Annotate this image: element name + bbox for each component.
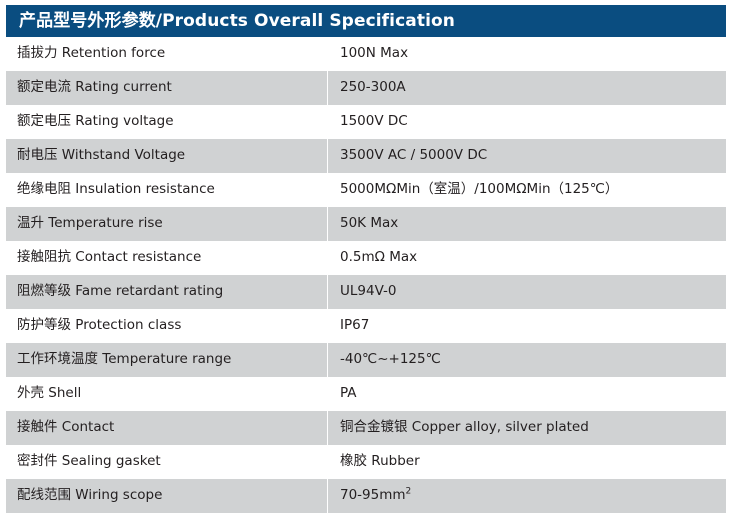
- specification-rows: 插拔力 Retention force100N Max额定电流 Rating c…: [0, 37, 734, 513]
- column-divider: [327, 71, 328, 105]
- column-divider: [327, 207, 328, 241]
- table-row: 插拔力 Retention force100N Max: [6, 37, 726, 71]
- parameter-label: 插拔力 Retention force: [6, 47, 327, 61]
- parameter-value: -40℃~+125℃: [327, 353, 726, 367]
- parameter-value: 1500V DC: [327, 115, 726, 129]
- table-row: 密封件 Sealing gasket橡胶 Rubber: [6, 445, 726, 479]
- table-row: 额定电流 Rating current250-300A: [6, 71, 726, 105]
- table-row: 外壳 ShellPA: [6, 377, 726, 411]
- parameter-label: 接触件 Contact: [6, 421, 327, 435]
- parameter-label: 温升 Temperature rise: [6, 217, 327, 231]
- parameter-label: 绝缘电阻 Insulation resistance: [6, 183, 327, 197]
- table-row: 接触阻抗 Contact resistance0.5mΩ Max: [6, 241, 726, 275]
- parameter-label: 额定电压 Rating voltage: [6, 115, 327, 129]
- specification-table: 产品型号外形参数/Products Overall Specification …: [0, 0, 734, 513]
- column-divider: [327, 139, 328, 173]
- parameter-value: 3500V AC / 5000V DC: [327, 149, 726, 163]
- table-row: 配线范围 Wiring scope70-95mm2: [6, 479, 726, 513]
- column-divider: [327, 411, 328, 445]
- parameter-label: 接触阻抗 Contact resistance: [6, 251, 327, 265]
- parameter-label: 密封件 Sealing gasket: [6, 455, 327, 469]
- table-row: 温升 Temperature rise50K Max: [6, 207, 726, 241]
- table-row: 阻燃等级 Fame retardant ratingUL94V-0: [6, 275, 726, 309]
- superscript-two: 2: [406, 487, 412, 497]
- parameter-value: 橡胶 Rubber: [327, 455, 726, 469]
- table-row: 绝缘电阻 Insulation resistance5000MΩMin（室温）/…: [6, 173, 726, 207]
- parameter-label: 阻燃等级 Fame retardant rating: [6, 285, 327, 299]
- parameter-label: 额定电流 Rating current: [6, 81, 327, 95]
- parameter-value: 50K Max: [327, 217, 726, 231]
- parameter-value: 250-300A: [327, 81, 726, 95]
- parameter-label: 外壳 Shell: [6, 387, 327, 401]
- table-row: 额定电压 Rating voltage1500V DC: [6, 105, 726, 139]
- table-row: 工作环境温度 Temperature range-40℃~+125℃: [6, 343, 726, 377]
- column-divider: [327, 479, 328, 513]
- page-title: 产品型号外形参数/Products Overall Specification: [19, 13, 455, 30]
- parameter-value: IP67: [327, 319, 726, 333]
- table-header: 产品型号外形参数/Products Overall Specification: [6, 5, 726, 37]
- parameter-value: 70-95mm2: [327, 489, 726, 503]
- column-divider: [327, 343, 328, 377]
- column-divider: [327, 275, 328, 309]
- parameter-value: PA: [327, 387, 726, 401]
- parameter-value: 100N Max: [327, 47, 726, 61]
- parameter-value: 5000MΩMin（室温）/100MΩMin（125℃）: [327, 183, 726, 197]
- parameter-value: UL94V-0: [327, 285, 726, 299]
- parameter-value: 铜合金镀银 Copper alloy, silver plated: [327, 421, 726, 435]
- parameter-label: 配线范围 Wiring scope: [6, 489, 327, 503]
- table-row: 耐电压 Withstand Voltage3500V AC / 5000V DC: [6, 139, 726, 173]
- parameter-label: 防护等级 Protection class: [6, 319, 327, 333]
- parameter-label: 工作环境温度 Temperature range: [6, 353, 327, 367]
- parameter-label: 耐电压 Withstand Voltage: [6, 149, 327, 163]
- table-row: 防护等级 Protection classIP67: [6, 309, 726, 343]
- parameter-value: 0.5mΩ Max: [327, 251, 726, 265]
- table-row: 接触件 Contact铜合金镀银 Copper alloy, silver pl…: [6, 411, 726, 445]
